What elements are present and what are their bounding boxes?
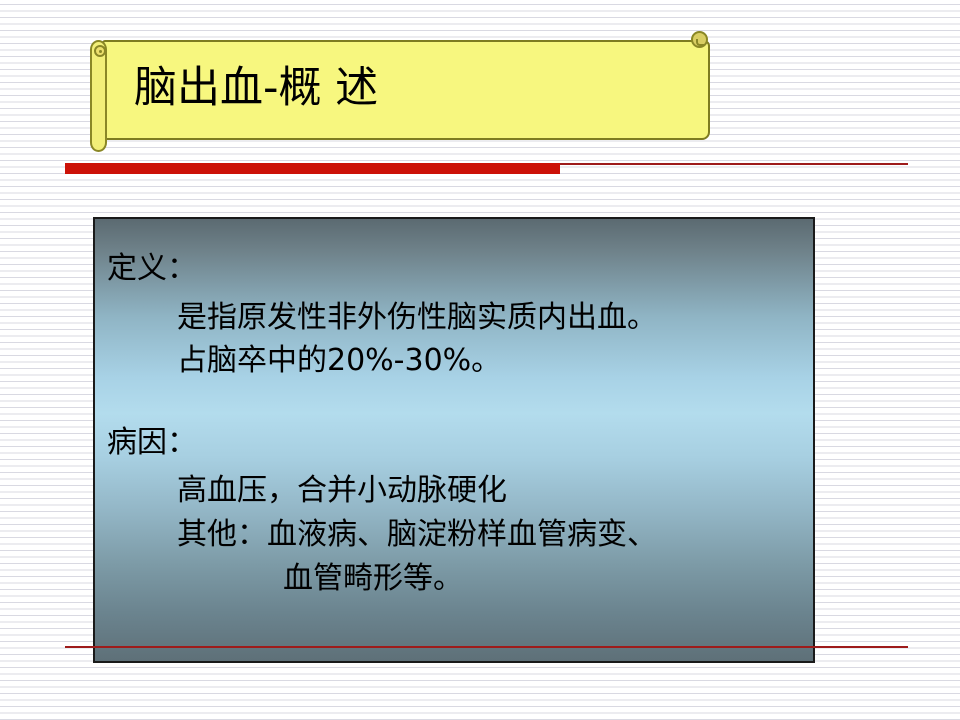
title-banner: 脑出血-概 述 bbox=[90, 35, 710, 140]
scroll-curl-left-icon bbox=[90, 40, 107, 152]
page-title: 脑出血-概 述 bbox=[134, 58, 378, 118]
cause-line-1: 高血压，合并小动脉硬化 bbox=[177, 474, 507, 508]
divider-rule-top-thick bbox=[65, 163, 560, 174]
cause-line-3: 血管畸形等。 bbox=[283, 562, 463, 596]
divider-rule-bottom-thin bbox=[65, 646, 908, 648]
cause-heading: 病因： bbox=[107, 426, 197, 460]
title-banner-body: 脑出血-概 述 bbox=[102, 40, 710, 140]
definition-line-1: 是指原发性非外伤性脑实质内出血。 bbox=[177, 301, 657, 335]
definition-heading: 定义： bbox=[107, 252, 197, 286]
scroll-curl-right-icon bbox=[691, 31, 708, 48]
definition-line-2: 占脑卒中的20%-30%。 bbox=[177, 344, 501, 378]
cause-line-2: 其他：血液病、脑淀粉样血管病变、 bbox=[177, 518, 657, 552]
content-box: 定义： 是指原发性非外伤性脑实质内出血。 占脑卒中的20%-30%。 病因： 高… bbox=[93, 217, 815, 663]
scroll-curl-left-knob-icon bbox=[94, 45, 106, 57]
presentation-slide: 脑出血-概 述 定义： 是指原发性非外伤性脑实质内出血。 占脑卒中的20%-30… bbox=[0, 0, 960, 720]
